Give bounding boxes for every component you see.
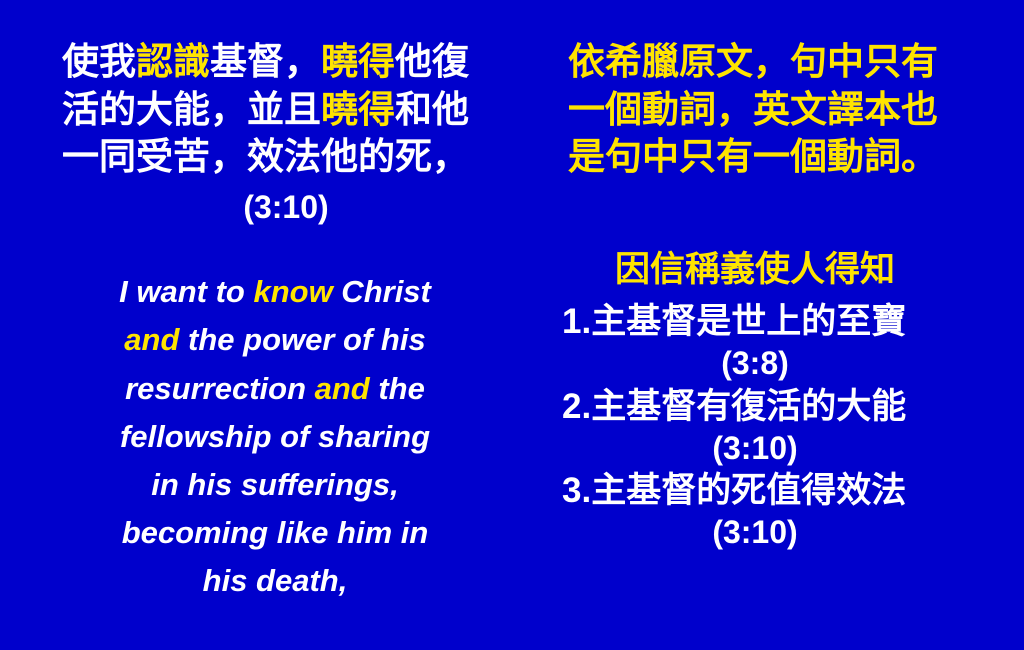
chinese-passage-line-1-part-b: 基督，	[210, 41, 321, 82]
english-passage-line-1-part-b: Christ	[333, 274, 431, 309]
english-passage-line-3-highlight: and	[315, 371, 370, 406]
chinese-passage-line-2: 活的大能，並且曉得和他	[62, 86, 510, 134]
chinese-passage-line-1-part-a: 使我	[62, 41, 136, 82]
chinese-note: 依希臘原文，句中只有 一個動詞，英文譯本也 是句中只有一個動詞。	[520, 38, 990, 181]
english-passage-line-3-part-a: resurrection	[125, 371, 315, 406]
list-item: 3.主基督的死值得效法	[520, 470, 990, 511]
list-item-text: 主基督的死值得效法	[591, 471, 906, 510]
left-column: 使我認識基督，曉得他復 活的大能，並且曉得和他 一同受苦，效法他的死， (3:1…	[40, 0, 510, 605]
english-passage-line-7: his death,	[40, 557, 510, 605]
english-passage-line-3-part-b: the	[370, 371, 425, 406]
chinese-passage: 使我認識基督，曉得他復 活的大能，並且曉得和他 一同受苦，效法他的死， (3:1…	[40, 38, 510, 228]
chinese-note-line-2: 一個動詞，英文譯本也	[568, 86, 990, 134]
chinese-passage-line-2-highlight: 曉得	[321, 89, 395, 130]
list-heading: 因信稱義使人得知	[520, 249, 990, 291]
chinese-passage-line-2-part-a: 活的大能，並且	[62, 89, 321, 130]
list-item: 1.主基督是世上的至寶	[520, 301, 990, 342]
english-passage-line-1: I want to know Christ	[40, 268, 510, 316]
chinese-note-line-3: 是句中只有一個動詞。	[568, 133, 990, 181]
english-passage-line-2: and the power of his	[40, 316, 510, 364]
slide-canvas: 使我認識基督，曉得他復 活的大能，並且曉得和他 一同受苦，效法他的死， (3:1…	[0, 0, 1024, 650]
english-passage-line-4: fellowship of sharing	[40, 413, 510, 461]
chinese-note-line-1: 依希臘原文，句中只有	[568, 38, 990, 86]
english-passage-line-6: becoming like him in	[40, 509, 510, 557]
list-item-reference: (3:8)	[520, 342, 990, 385]
english-passage-line-2-highlight: and	[124, 322, 179, 357]
list-item-reference: (3:10)	[520, 427, 990, 470]
list-item-number: 1.	[562, 302, 591, 341]
english-passage-line-1-highlight: know	[253, 274, 332, 309]
english-passage-line-1-part-a: I want to	[119, 274, 253, 309]
english-passage-line-5: in his sufferings,	[40, 461, 510, 509]
list-item-reference: (3:10)	[520, 511, 990, 554]
right-column: 依希臘原文，句中只有 一個動詞，英文譯本也 是句中只有一個動詞。 因信稱義使人得…	[520, 0, 990, 555]
list-item-number: 2.	[562, 387, 591, 426]
chinese-passage-line-3: 一同受苦，效法他的死，	[62, 133, 510, 181]
list-item: 2.主基督有復活的大能	[520, 386, 990, 427]
english-passage: I want to know Christ and the power of h…	[40, 268, 510, 604]
english-passage-line-3: resurrection and the	[40, 365, 510, 413]
chinese-passage-line-1: 使我認識基督，曉得他復	[62, 38, 510, 86]
list-item-number: 3.	[562, 471, 591, 510]
list-item-text: 主基督是世上的至寶	[591, 302, 906, 341]
chinese-passage-line-1-highlight-2: 曉得	[321, 41, 395, 82]
chinese-passage-line-2-part-b: 和他	[395, 89, 469, 130]
numbered-list: 1.主基督是世上的至寶 (3:8) 2.主基督有復活的大能 (3:10) 3.主…	[520, 301, 990, 554]
chinese-passage-line-1-part-c: 他復	[395, 41, 469, 82]
list-item-text: 主基督有復活的大能	[591, 387, 906, 426]
english-passage-line-2-part-b: the power of his	[179, 322, 425, 357]
chinese-passage-reference: (3:10)	[62, 181, 510, 228]
chinese-passage-line-1-highlight-1: 認識	[136, 41, 210, 82]
